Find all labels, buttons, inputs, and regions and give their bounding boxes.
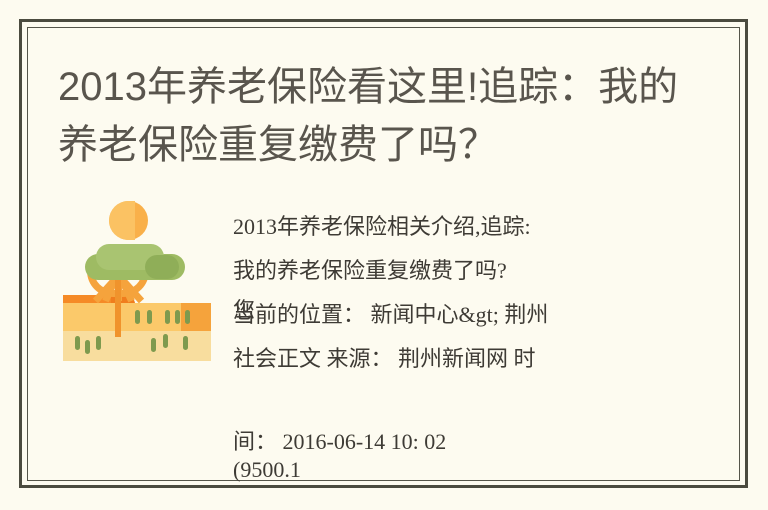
page-title: 2013年养老保险看这里!追踪：我的养老保险重复缴费了吗？: [58, 58, 698, 174]
tree-canopy-side-icon: [145, 255, 179, 279]
grass-tuft-icon: [175, 310, 180, 324]
savanna-illustration: [63, 197, 211, 361]
grass-tuft-icon: [85, 340, 90, 354]
grass-tuft-icon: [96, 336, 101, 350]
grass-tuft-icon: [183, 336, 188, 350]
grass-tuft-icon: [75, 336, 80, 350]
grass-tuft-icon: [163, 334, 168, 348]
grass-tuft-icon: [135, 310, 140, 324]
article-body-text: 2013年养老保险相关介绍,追踪: 我的养老保险重复缴费了吗? 当前的位置： 新…: [233, 205, 663, 381]
tree-trunk-icon: [115, 275, 121, 337]
grass-tuft-icon: [147, 310, 152, 324]
sun-highlight-icon: [109, 201, 135, 240]
grass-tuft-icon: [151, 338, 156, 352]
article-body-tail-text: 间： 2016-06-14 10: 02 (9500.1: [233, 428, 663, 484]
grass-tuft-icon: [165, 310, 170, 324]
article-card-page: 2013年养老保险看这里!追踪：我的养老保险重复缴费了吗？ 您 2013年养老保…: [0, 0, 768, 510]
grass-tuft-icon: [185, 310, 190, 324]
